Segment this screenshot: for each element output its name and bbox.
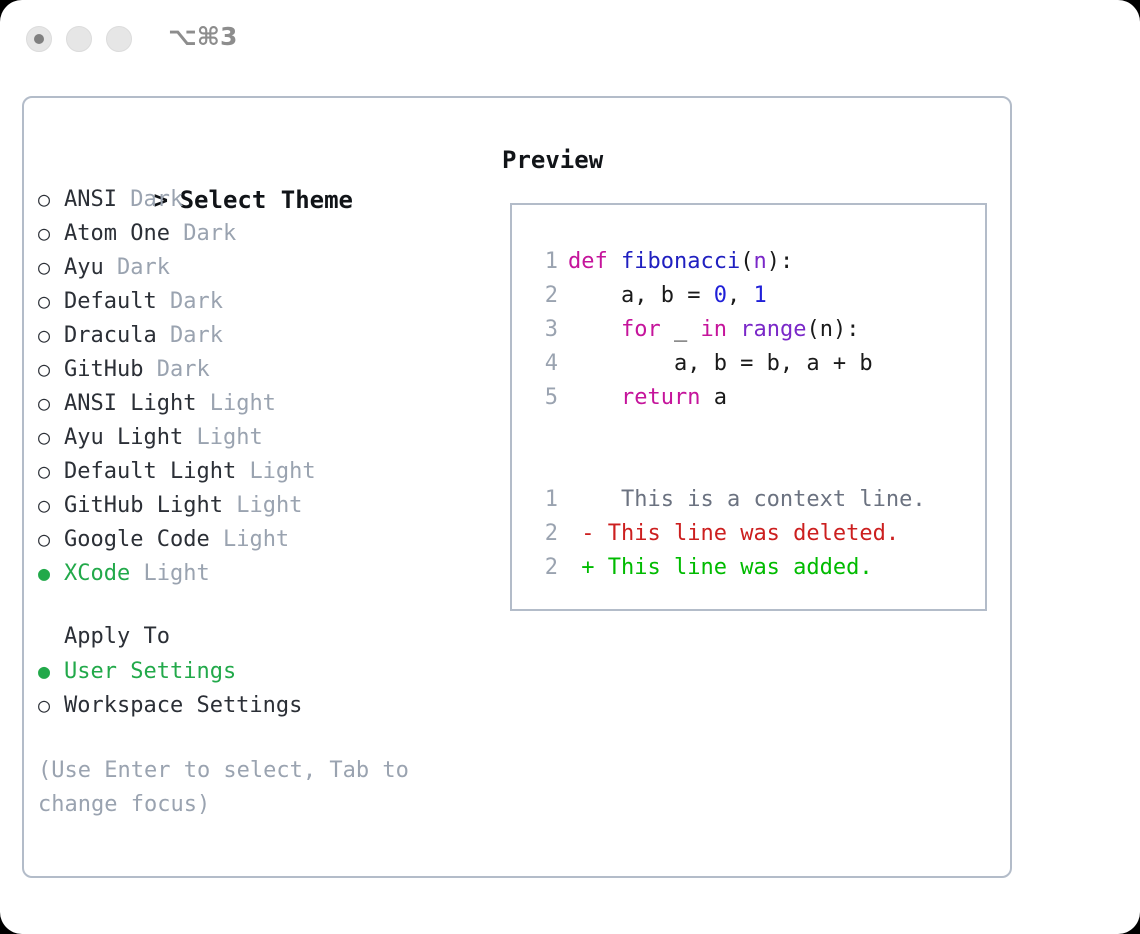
preview-panel: 1def fibonacci(n):2 a, b = 0, 13 for _ i… <box>510 203 987 611</box>
theme-variant-badge: Dark <box>183 221 236 246</box>
diff-text: This line was deleted. <box>595 521 900 546</box>
theme-name: Default <box>64 289 157 314</box>
theme-name: Ayu Light <box>64 425 183 450</box>
code-token <box>568 317 621 342</box>
radio-unselected-icon[interactable]: ○ <box>38 250 64 284</box>
code-line: 1def fibonacci(n): <box>530 245 970 279</box>
theme-variant-badge: Dark <box>170 323 223 348</box>
diff-line: 2 + This line was added. <box>530 551 970 585</box>
radio-unselected-icon[interactable]: ○ <box>38 284 64 318</box>
diff-text: This is a context line. <box>595 487 926 512</box>
line-number: 4 <box>530 347 558 381</box>
select-theme-heading: >Select Theme <box>38 146 478 182</box>
theme-variant-badge: Dark <box>157 357 210 382</box>
radio-unselected-icon[interactable]: ○ <box>38 318 64 352</box>
code-token: def <box>568 249 608 274</box>
code-preview: 1def fibonacci(n):2 a, b = 0, 13 for _ i… <box>530 245 970 585</box>
code-token: 0 <box>714 283 727 308</box>
main-window: >Select Theme ○ANSI Dark○Atom One Dark○A… <box>22 96 1012 878</box>
theme-variant-badge: Light <box>223 527 289 552</box>
code-line: 4 a, b = b, a + b <box>530 347 970 381</box>
keyboard-hint-text: (Use Enter to select, Tab to change focu… <box>38 754 448 822</box>
code-token: range <box>740 317 806 342</box>
radio-unselected-icon[interactable]: ○ <box>38 488 64 522</box>
radio-unselected-icon[interactable]: ○ <box>38 182 64 216</box>
theme-list-item[interactable]: ●XCode Light <box>38 556 478 590</box>
theme-list-item[interactable]: ○Default Dark <box>38 284 478 318</box>
diff-line: 1 This is a context line. <box>530 483 970 517</box>
code-token: a, b = b, a + b <box>568 351 873 376</box>
radio-unselected-icon[interactable]: ○ <box>38 454 64 488</box>
theme-spacer <box>170 221 183 246</box>
code-line: 5 return a <box>530 381 970 415</box>
apply-to-list: ●User Settings○Workspace Settings <box>38 654 478 722</box>
theme-name: GitHub <box>64 357 143 382</box>
theme-spacer <box>117 187 130 212</box>
line-number: 1 <box>530 245 558 279</box>
theme-variant-badge: Light <box>236 493 302 518</box>
radio-unselected-icon[interactable]: ○ <box>38 420 64 454</box>
theme-list-item[interactable]: ○ANSI Light Light <box>38 386 478 420</box>
theme-list-item[interactable]: ○Google Code Light <box>38 522 478 556</box>
line-number: 2 <box>530 517 558 551</box>
line-number: 1 <box>530 483 558 517</box>
line-number: 2 <box>530 279 558 313</box>
code-token: _ <box>661 317 701 342</box>
diff-line: 2 - This line was deleted. <box>530 517 970 551</box>
theme-list-item[interactable]: ○GitHub Light Light <box>38 488 478 522</box>
theme-variant-badge: Light <box>196 425 262 450</box>
code-token: fibonacci <box>621 249 740 274</box>
theme-spacer <box>104 255 117 280</box>
radio-unselected-icon[interactable]: ○ <box>38 386 64 420</box>
theme-list: ○ANSI Dark○Atom One Dark○Ayu Dark○Defaul… <box>38 182 478 590</box>
theme-spacer <box>157 289 170 314</box>
theme-spacer <box>143 357 156 382</box>
window-dot-2[interactable] <box>66 26 92 52</box>
code-token: ( <box>740 249 753 274</box>
theme-name: Google Code <box>64 527 210 552</box>
line-number: 5 <box>530 381 558 415</box>
code-token: return <box>621 385 700 410</box>
radio-unselected-icon[interactable]: ○ <box>38 522 64 556</box>
theme-spacer <box>196 391 209 416</box>
theme-list-item[interactable]: ○Atom One Dark <box>38 216 478 250</box>
theme-list-item[interactable]: ○Ayu Light Light <box>38 420 478 454</box>
preview-heading: Preview <box>502 146 603 174</box>
diff-sign: - <box>568 521 595 546</box>
theme-variant-badge: Dark <box>170 289 223 314</box>
diff-sample: 1 This is a context line.2 - This line w… <box>530 483 970 585</box>
theme-name: Default Light <box>64 459 236 484</box>
theme-name: ANSI <box>64 187 117 212</box>
theme-list-item[interactable]: ○Dracula Dark <box>38 318 478 352</box>
apply-to-item[interactable]: ●User Settings <box>38 654 478 688</box>
theme-name: XCode <box>64 561 130 586</box>
window-dot-3[interactable] <box>106 26 132 52</box>
code-token: 1 <box>753 283 766 308</box>
theme-variant-badge: Light <box>143 561 209 586</box>
title-bar: ⌥⌘3 <box>0 0 1140 78</box>
apply-to-item[interactable]: ○Workspace Settings <box>38 688 478 722</box>
code-token: in <box>700 317 727 342</box>
apply-to-label: Workspace Settings <box>64 693 302 718</box>
code-token: ): <box>767 249 794 274</box>
keyboard-shortcut-label: ⌥⌘3 <box>168 22 237 51</box>
radio-selected-icon[interactable]: ● <box>38 654 64 688</box>
code-token: n <box>753 249 766 274</box>
code-line: 3 for _ in range(n): <box>530 313 970 347</box>
code-token: (n): <box>806 317 859 342</box>
diff-sign: + <box>568 555 595 580</box>
theme-name: Dracula <box>64 323 157 348</box>
window-dot-active-indicator <box>34 34 44 44</box>
apply-to-label: User Settings <box>64 659 236 684</box>
code-spacer <box>530 415 970 449</box>
theme-variant-badge: Light <box>210 391 276 416</box>
theme-spacer <box>157 323 170 348</box>
code-token <box>608 249 621 274</box>
diff-text: This line was added. <box>595 555 873 580</box>
radio-selected-icon[interactable]: ● <box>38 556 64 590</box>
code-line: 2 a, b = 0, 1 <box>530 279 970 313</box>
theme-list-item[interactable]: ○Default Light Light <box>38 454 478 488</box>
apply-to-heading: Apply To <box>38 620 478 654</box>
code-token: a, b = <box>568 283 714 308</box>
code-token: a <box>700 385 727 410</box>
theme-selector-panel: >Select Theme ○ANSI Dark○Atom One Dark○A… <box>38 146 478 822</box>
code-token: for <box>621 317 661 342</box>
theme-name: GitHub Light <box>64 493 223 518</box>
code-token <box>727 317 740 342</box>
theme-spacer <box>130 561 143 586</box>
line-number: 2 <box>530 551 558 585</box>
theme-variant-badge: Dark <box>130 187 183 212</box>
theme-name: Ayu <box>64 255 104 280</box>
radio-unselected-icon[interactable]: ○ <box>38 688 64 722</box>
theme-spacer <box>210 527 223 552</box>
diff-sign <box>568 487 595 512</box>
theme-name: ANSI Light <box>64 391 196 416</box>
theme-spacer <box>223 493 236 518</box>
app-page: ⌥⌘3 >Select Theme ○ANSI Dark○Atom One Da… <box>0 0 1140 934</box>
theme-spacer <box>236 459 249 484</box>
theme-variant-badge: Dark <box>117 255 170 280</box>
theme-list-item[interactable]: ○GitHub Dark <box>38 352 478 386</box>
line-number: 3 <box>530 313 558 347</box>
code-token: , <box>727 283 754 308</box>
code-spacer-2 <box>530 449 970 483</box>
theme-name: Atom One <box>64 221 170 246</box>
theme-variant-badge: Light <box>249 459 315 484</box>
radio-unselected-icon[interactable]: ○ <box>38 216 64 250</box>
code-token <box>568 385 621 410</box>
theme-spacer <box>183 425 196 450</box>
code-sample: 1def fibonacci(n):2 a, b = 0, 13 for _ i… <box>530 245 970 415</box>
theme-list-item[interactable]: ○Ayu Dark <box>38 250 478 284</box>
select-theme-heading-label: Select Theme <box>180 186 353 214</box>
radio-unselected-icon[interactable]: ○ <box>38 352 64 386</box>
